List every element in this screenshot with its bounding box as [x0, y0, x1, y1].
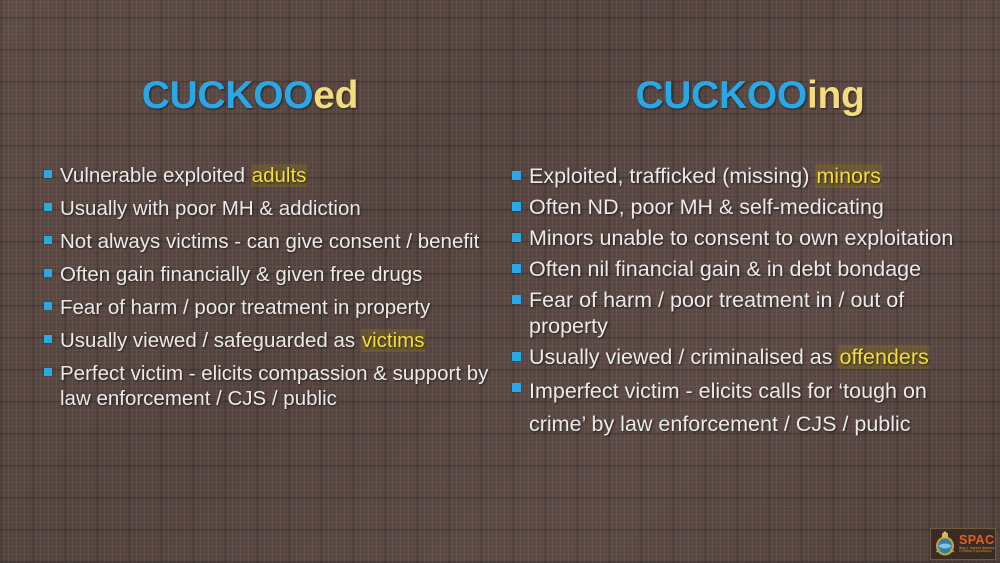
- bullet-item: Imperfect victim - elicits calls for ‘to…: [512, 375, 982, 441]
- bullet-text: Fear of harm / poor treatment in propert…: [60, 295, 430, 320]
- bullet-text: Often nil financial gain & in debt bonda…: [529, 256, 921, 282]
- bullet-item: Exploited, trafficked (missing) minors: [512, 163, 982, 189]
- square-bullet-icon: [44, 368, 52, 376]
- bullet-item: Not always victims - can give consent / …: [44, 229, 506, 254]
- space-badge-icon: [933, 531, 957, 557]
- space-logo-subtitle-line2: Criminal Exploitation: [959, 550, 996, 553]
- square-bullet-icon: [512, 383, 521, 392]
- bullet-item: Vulnerable exploited adults: [44, 163, 506, 188]
- bullet-text-highlight: offenders: [838, 345, 929, 369]
- left-bullet-list: Vulnerable exploited adultsUsually with …: [44, 163, 506, 419]
- bullet-text: Usually with poor MH & addiction: [60, 196, 361, 221]
- square-bullet-icon: [512, 264, 521, 273]
- bullet-text-plain: Usually viewed / safeguarded as: [60, 329, 361, 352]
- space-logo-text: SPACE Stop | Hazard Adolescent Criminal …: [959, 534, 996, 553]
- bullet-text-plain: Fear of harm / poor treatment in propert…: [60, 296, 430, 319]
- left-title-suffix: ed: [313, 74, 358, 117]
- bullet-text: Usually viewed / criminalised as offende…: [529, 344, 930, 370]
- bullet-text-plain: Often gain financially & given free drug…: [60, 263, 422, 286]
- bullet-item: Fear of harm / poor treatment in / out o…: [512, 287, 982, 339]
- bullet-item: Fear of harm / poor treatment in propert…: [44, 295, 506, 320]
- bullet-text: Vulnerable exploited adults: [60, 163, 307, 188]
- square-bullet-icon: [44, 170, 52, 178]
- bullet-text-plain: Often ND, poor MH & self-medicating: [529, 195, 884, 219]
- right-title-suffix: ing: [807, 74, 865, 117]
- bullet-text: Usually viewed / safeguarded as victims: [60, 328, 425, 353]
- square-bullet-icon: [44, 302, 52, 310]
- bullet-text-plain: Fear of harm / poor treatment in / out o…: [529, 288, 904, 338]
- square-bullet-icon: [512, 171, 521, 180]
- square-bullet-icon: [512, 233, 521, 242]
- bullet-text-plain: Minors unable to consent to own exploita…: [529, 226, 953, 250]
- square-bullet-icon: [512, 352, 521, 361]
- bullet-item: Minors unable to consent to own exploita…: [512, 225, 982, 251]
- square-bullet-icon: [44, 335, 52, 343]
- left-title-main: CUCKOO: [142, 74, 314, 117]
- bullet-text-plain: Not always victims - can give consent / …: [60, 230, 479, 253]
- right-column-title: CUCKOOing: [500, 74, 1000, 118]
- bullet-text-plain: Vulnerable exploited: [60, 164, 251, 187]
- bullet-text-highlight: adults: [251, 164, 308, 187]
- bullet-text-plain: Usually with poor MH & addiction: [60, 197, 361, 220]
- bullet-item: Perfect victim - elicits compassion & su…: [44, 361, 506, 411]
- right-bullet-list: Exploited, trafficked (missing) minorsOf…: [512, 163, 982, 446]
- right-title-main: CUCKOO: [635, 74, 807, 117]
- bullet-item: Usually viewed / criminalised as offende…: [512, 344, 982, 370]
- space-logo: SPACE Stop | Hazard Adolescent Criminal …: [930, 528, 996, 560]
- bullet-text-plain: Perfect victim - elicits compassion & su…: [60, 362, 488, 410]
- bullet-text-highlight: victims: [361, 329, 426, 352]
- bullet-text-plain: Imperfect victim - elicits calls for ‘to…: [529, 379, 927, 436]
- square-bullet-icon: [512, 295, 521, 304]
- bullet-item: Often gain financially & given free drug…: [44, 262, 506, 287]
- bullet-item: Often ND, poor MH & self-medicating: [512, 194, 982, 220]
- bullet-text: Perfect victim - elicits compassion & su…: [60, 361, 506, 411]
- bullet-text: Minors unable to consent to own exploita…: [529, 225, 953, 251]
- bullet-text: Exploited, trafficked (missing) minors: [529, 163, 882, 189]
- bullet-text: Fear of harm / poor treatment in / out o…: [529, 287, 982, 339]
- bullet-item: Usually with poor MH & addiction: [44, 196, 506, 221]
- square-bullet-icon: [512, 202, 521, 211]
- square-bullet-icon: [44, 203, 52, 211]
- bullet-text-plain: Usually viewed / criminalised as: [529, 345, 838, 369]
- bullet-text-plain: Often nil financial gain & in debt bonda…: [529, 257, 921, 281]
- left-column-title: CUCKOOed: [0, 74, 500, 118]
- space-logo-word: SPACE: [959, 534, 996, 547]
- bullet-text-highlight: minors: [815, 164, 882, 188]
- square-bullet-icon: [44, 236, 52, 244]
- square-bullet-icon: [44, 269, 52, 277]
- bullet-text: Often gain financially & given free drug…: [60, 262, 422, 287]
- bullet-item: Often nil financial gain & in debt bonda…: [512, 256, 982, 282]
- bullet-item: Usually viewed / safeguarded as victims: [44, 328, 506, 353]
- bullet-text: Often ND, poor MH & self-medicating: [529, 194, 884, 220]
- presentation-slide: CUCKOOed CUCKOOing Vulnerable exploited …: [0, 0, 1000, 563]
- bullet-text-plain: Exploited, trafficked (missing): [529, 164, 815, 188]
- bullet-text: Not always victims - can give consent / …: [60, 229, 479, 254]
- bullet-text: Imperfect victim - elicits calls for ‘to…: [529, 375, 982, 441]
